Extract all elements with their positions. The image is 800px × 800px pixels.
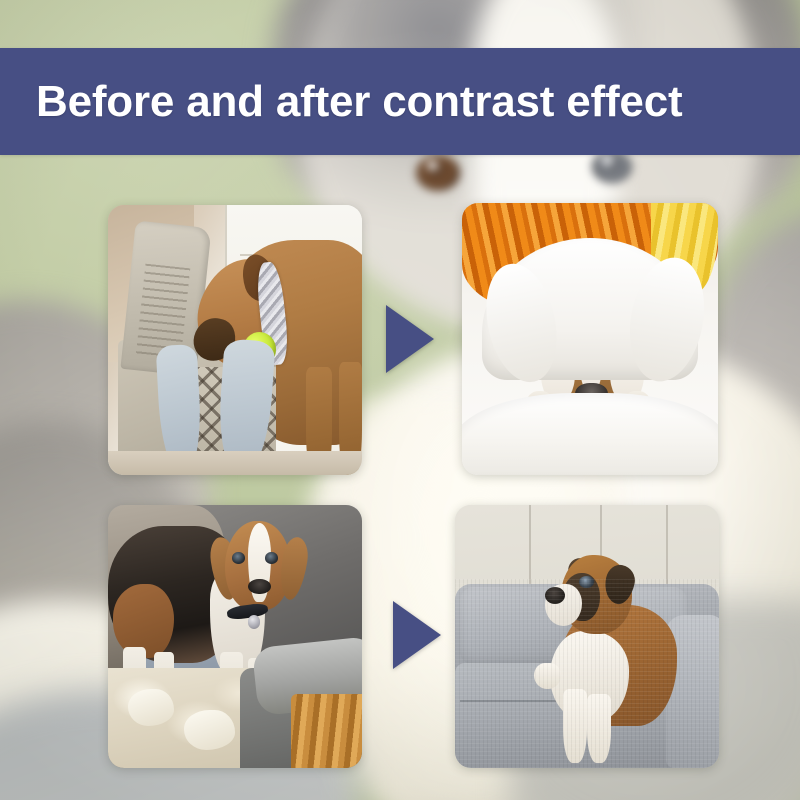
scene-laundry <box>108 205 362 475</box>
scene-shredded-couch <box>108 505 362 768</box>
arrow-right-icon-row2 <box>393 601 441 669</box>
couch-exposed-wood-frame <box>291 694 362 768</box>
laundry-floor <box>108 451 362 475</box>
boxer-paw-back <box>534 663 560 689</box>
photo-before-shredded-couch[interactable] <box>108 505 362 768</box>
scene-sofa <box>455 505 719 768</box>
boxer-eye <box>579 576 594 588</box>
beagle-eye-right <box>265 552 278 564</box>
beagle-eye-left <box>232 552 245 564</box>
page-title: Before and after contrast effect <box>36 77 682 127</box>
boxer-nose <box>545 587 565 604</box>
photo-after-boxer-sofa[interactable] <box>455 505 719 768</box>
stuffing-tuft-2 <box>184 710 235 749</box>
arrow-right-icon-row1 <box>386 305 434 373</box>
duvet-bottom <box>462 393 718 475</box>
photo-before-laundry-basket[interactable] <box>108 205 362 475</box>
photo-after-terrier-duvet[interactable] <box>462 203 718 475</box>
beagle-nose <box>248 579 271 595</box>
title-banner: Before and after contrast effect <box>0 48 800 155</box>
poster-canvas: Before and after contrast effect <box>0 0 800 800</box>
stuffing-tuft-1 <box>128 689 174 726</box>
boxer-paw-front-left <box>563 689 587 763</box>
beagle-collar-tag <box>248 615 261 628</box>
boxer-paw-front-right <box>587 694 611 762</box>
scene-duvet <box>462 203 718 475</box>
